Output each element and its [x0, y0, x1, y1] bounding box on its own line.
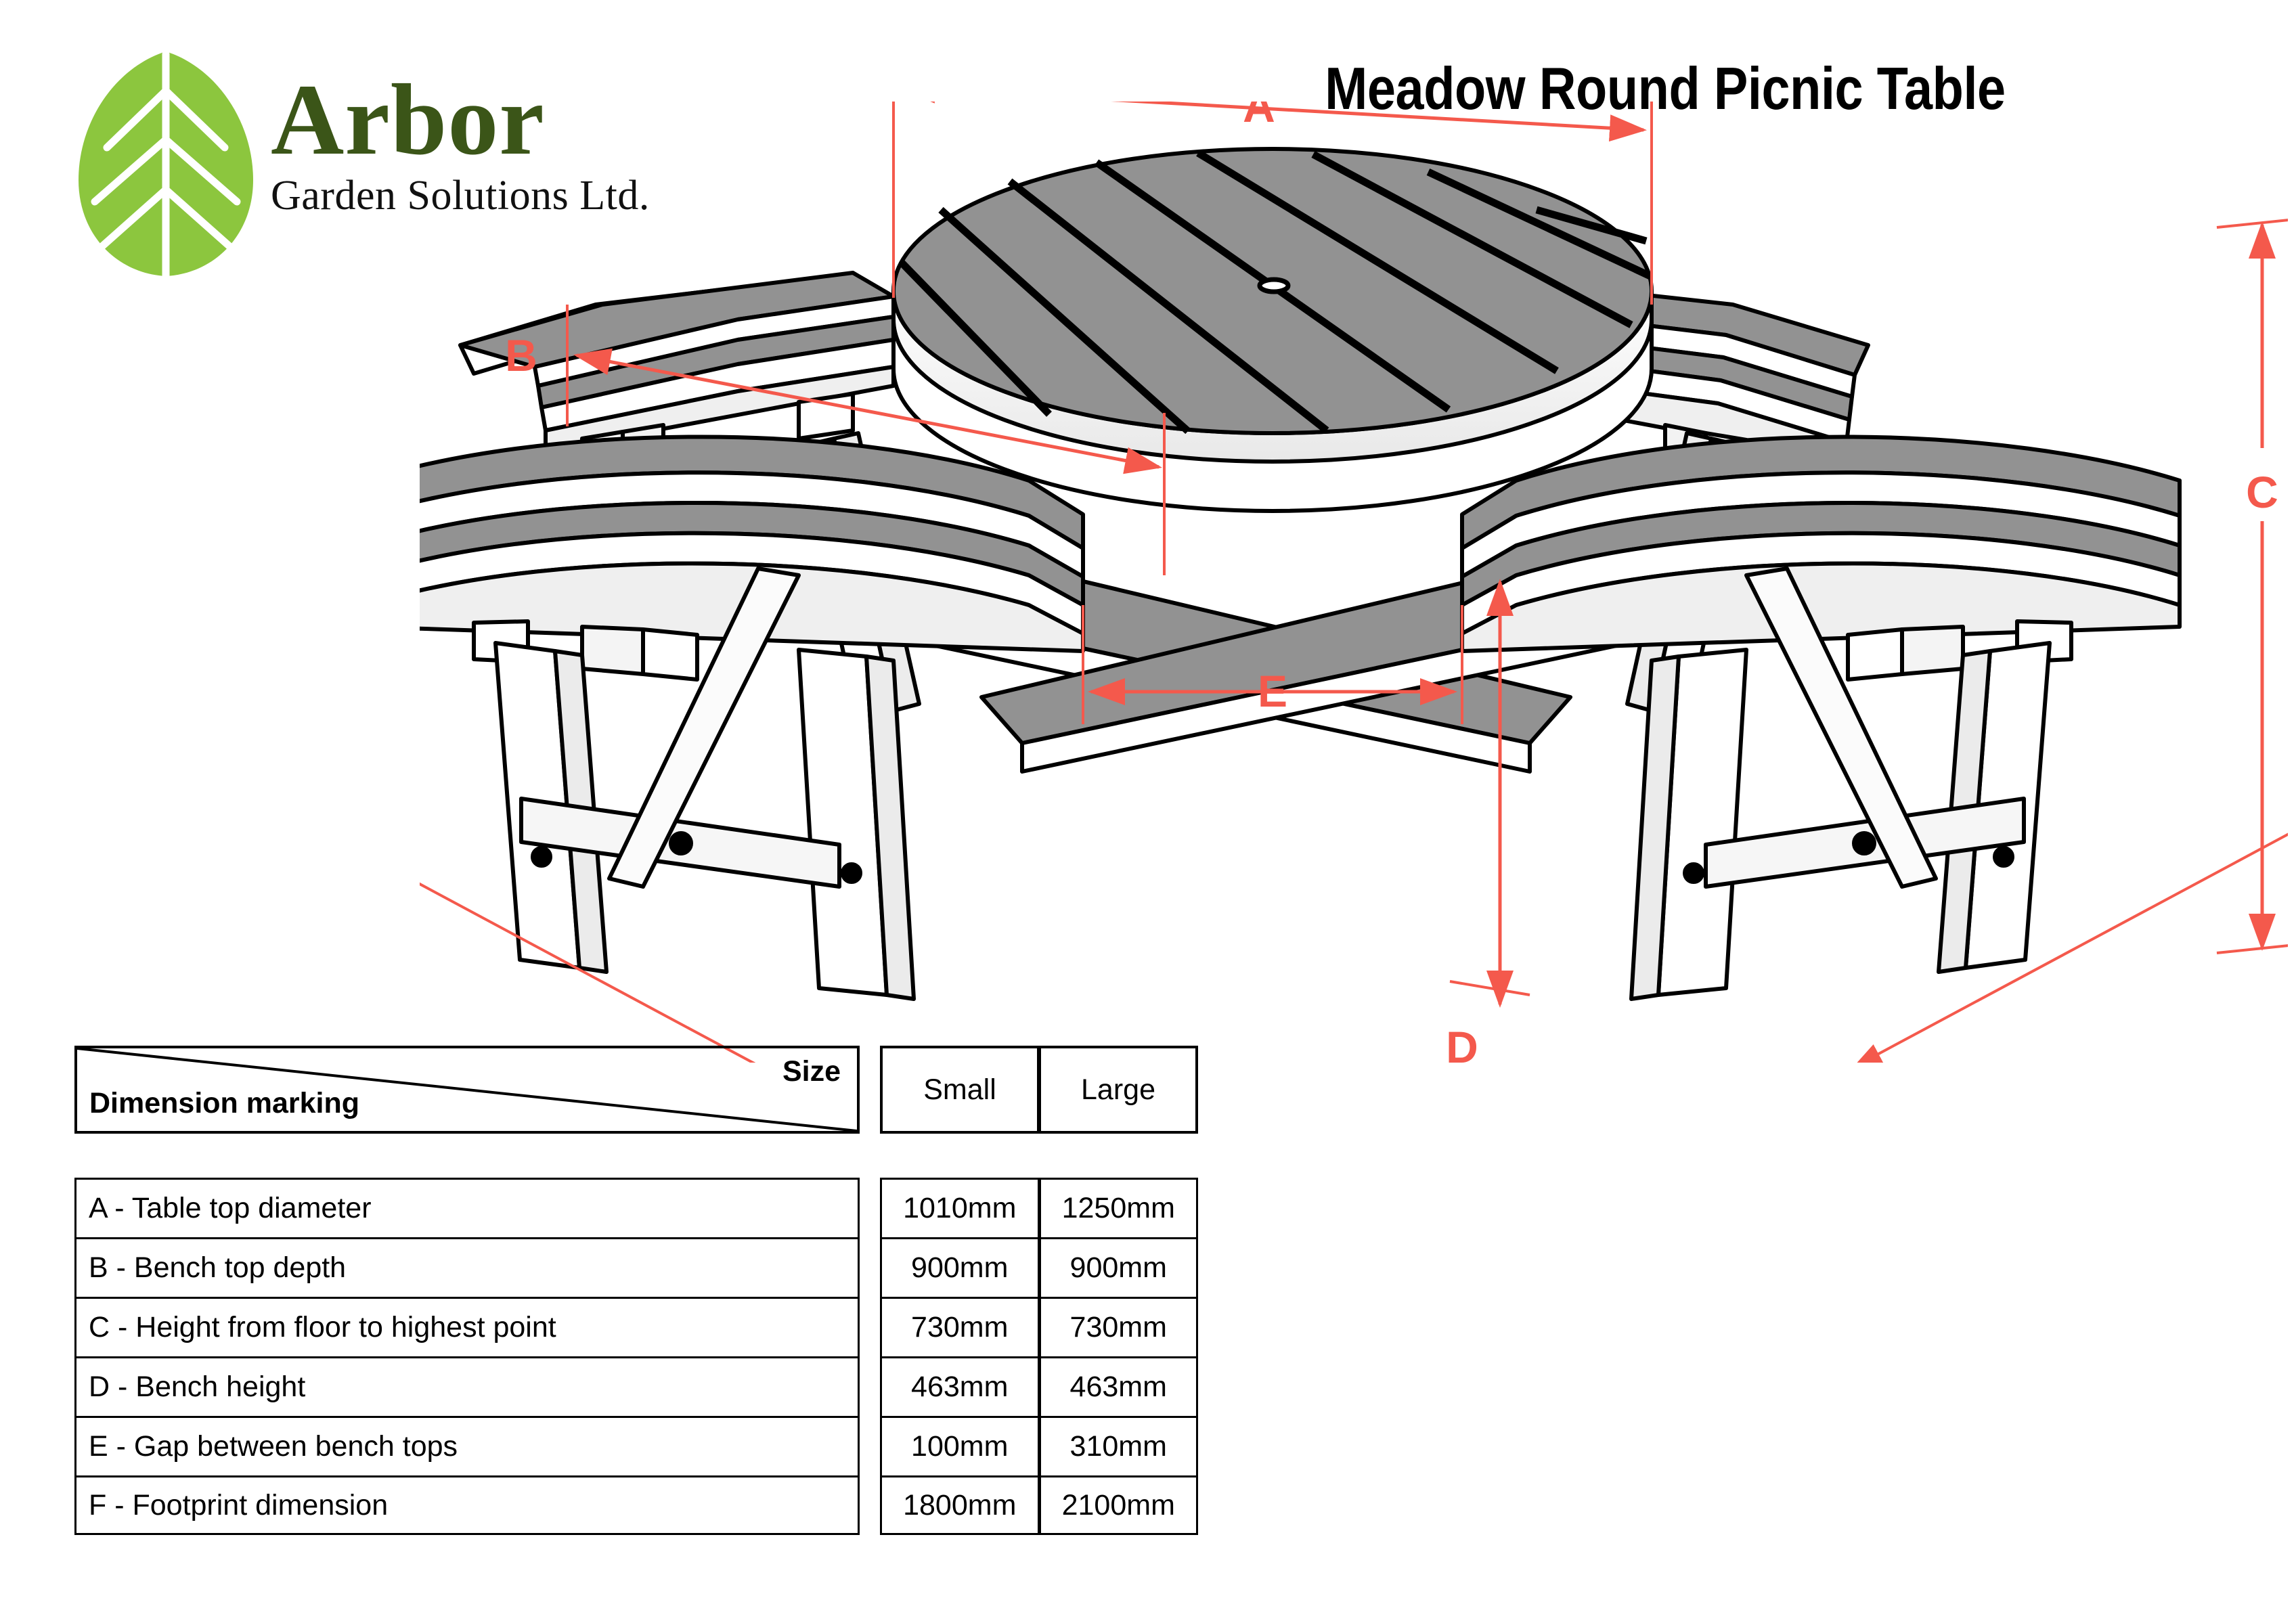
spec-table-size-columns-header: Small Large — [880, 1046, 1198, 1134]
table-row: 1800mm 2100mm — [880, 1475, 1198, 1535]
spec-table-values-columns: 1010mm 1250mm 900mm 900mm 730mm 730mm 46… — [880, 1178, 1198, 1535]
cell-small: 1010mm — [880, 1178, 1040, 1237]
leg-front-left-inner — [799, 650, 914, 999]
dimension-F-left: F — [420, 731, 866, 1063]
table-row: C - Height from floor to highest point — [74, 1297, 860, 1356]
table-row: 730mm 730mm — [880, 1297, 1198, 1356]
dimension-label-E: E — [1258, 666, 1287, 716]
table-row: 463mm 463mm — [880, 1356, 1198, 1416]
cell-large: 463mm — [1040, 1356, 1199, 1416]
cell-small: 463mm — [880, 1356, 1040, 1416]
leaf-icon — [74, 47, 257, 277]
table-row: D - Bench height — [74, 1356, 860, 1416]
cell-large: 1250mm — [1040, 1178, 1199, 1237]
spec-table-marking-column: A - Table top diameter B - Bench top dep… — [74, 1178, 860, 1535]
cell-large: 2100mm — [1040, 1475, 1199, 1535]
table-row: B - Bench top depth — [74, 1237, 860, 1297]
table-row: 900mm 900mm — [880, 1237, 1198, 1297]
dimension-C: C — [2217, 218, 2288, 953]
spec-header-size-label: Size — [782, 1055, 841, 1088]
table-row: F - Footprint dimension — [74, 1475, 860, 1535]
table-row: A - Table top diameter — [74, 1178, 860, 1237]
cell-small: 1800mm — [880, 1475, 1040, 1535]
picnic-table-drawing: A B C — [420, 102, 2288, 1063]
cell-large: 310mm — [1040, 1416, 1199, 1475]
spec-header-column-small: Small — [880, 1046, 1040, 1134]
dimension-label-A: A — [1243, 102, 1275, 131]
spec-header-dimension-marking-label: Dimension marking — [89, 1087, 359, 1120]
cell-large: 900mm — [1040, 1237, 1199, 1297]
table-top — [893, 149, 1652, 511]
dimension-label-D: D — [1446, 1022, 1478, 1063]
cell-small: 730mm — [880, 1297, 1040, 1356]
table-row: 1010mm 1250mm — [880, 1178, 1198, 1237]
spec-sheet-page: Arbor Garden Solutions Ltd. Meadow Round… — [0, 0, 2296, 1623]
spec-table-header-corner: Size Dimension marking — [74, 1046, 860, 1134]
dimension-label-B: B — [505, 330, 537, 380]
dimension-F-right: F — [1855, 728, 2288, 1063]
dimension-label-C: C — [2246, 467, 2278, 517]
spec-header-column-large: Large — [1040, 1046, 1198, 1134]
leg-front-right-inner — [1631, 650, 1746, 999]
table-row: E - Gap between bench tops — [74, 1416, 860, 1475]
table-row: 100mm 310mm — [880, 1416, 1198, 1475]
cell-small: 900mm — [880, 1237, 1040, 1297]
cell-large: 730mm — [1040, 1297, 1199, 1356]
cell-small: 100mm — [880, 1416, 1040, 1475]
